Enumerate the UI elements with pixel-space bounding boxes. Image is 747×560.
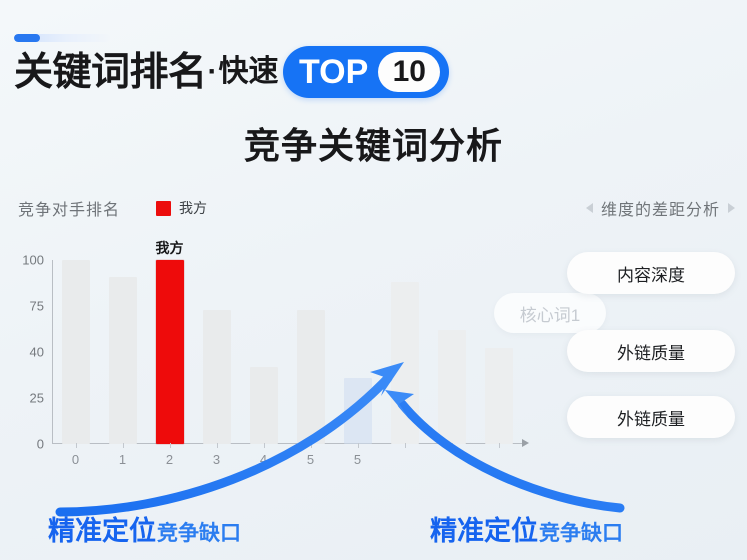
footer-caption-strong: 精准定位: [48, 509, 156, 548]
top-badge-number: 10: [378, 52, 440, 92]
bar[interactable]: [438, 330, 466, 444]
bar[interactable]: [109, 277, 137, 444]
chart-legend-title: 竞争对手排名: [18, 196, 120, 220]
top-rank-badge[interactable]: TOP 10: [283, 46, 449, 98]
page-title-separator: ·: [208, 57, 218, 87]
bar[interactable]: [203, 310, 231, 444]
bar[interactable]: [485, 348, 513, 444]
bar-value-caption: 我方: [156, 238, 184, 258]
legend-item-label: 我方: [179, 198, 207, 218]
bar[interactable]: [297, 310, 325, 444]
dimension-card-label: 外链质量: [617, 339, 685, 364]
x-axis-tick-label: 3: [213, 452, 220, 467]
dimension-card-label: 内容深度: [617, 261, 685, 286]
page-subtitle: 竞争关键词分析: [0, 117, 747, 169]
x-axis-tick: [405, 443, 406, 448]
legend-swatch-icon: [156, 201, 171, 216]
dimension-card-label: 外链质量: [617, 405, 685, 430]
page-title: 关键词排名 · 快速: [14, 44, 279, 100]
footer-caption-left: 精准定位 竞争缺口: [48, 509, 241, 548]
y-axis-tick-label: 40: [10, 345, 44, 360]
triangle-right-icon: [728, 203, 735, 213]
x-axis-tick-label: 5: [354, 452, 361, 467]
bar[interactable]: [250, 367, 278, 444]
dimension-card-2[interactable]: 外链质量: [567, 396, 735, 438]
y-axis-labels: 0254075100: [0, 236, 44, 486]
page-title-main: 关键词排名: [14, 53, 207, 92]
header-progress-track: [14, 34, 110, 42]
x-axis-tick: [76, 443, 77, 448]
y-axis-tick-label: 75: [10, 299, 44, 314]
bar-series: 我方: [52, 260, 560, 444]
bar-chart: 0254075100 我方 0123455: [0, 236, 560, 486]
bar[interactable]: [391, 282, 419, 444]
x-axis-tick-label: 5: [307, 452, 314, 467]
triangle-left-icon: [586, 203, 593, 213]
x-axis-tick: [264, 443, 265, 448]
x-axis-tick: [123, 443, 124, 448]
x-axis-tick-label: 0: [72, 452, 79, 467]
top-badge-label: TOP: [299, 55, 368, 89]
ghost-keyword-pill: 核心词1: [494, 293, 606, 333]
bar[interactable]: [62, 260, 90, 444]
dimension-card-1[interactable]: 外链质量: [567, 330, 735, 372]
dimension-card-0[interactable]: 内容深度: [567, 252, 735, 294]
side-panel-header: 维度的差距分析: [586, 196, 735, 220]
x-axis-tick: [358, 443, 359, 448]
side-panel-title: 维度的差距分析: [601, 196, 720, 220]
legend-item-mine: 我方: [156, 198, 207, 218]
chart-legend: 竞争对手排名 我方: [18, 196, 207, 220]
y-axis-tick-label: 0: [10, 437, 44, 452]
footer-caption-weak: 竞争缺口: [539, 517, 623, 547]
y-axis-tick-label: 100: [10, 253, 44, 268]
x-axis-tick: [452, 443, 453, 448]
x-axis-tick: [311, 443, 312, 448]
page-title-sub: 快速: [219, 57, 279, 87]
bar-highlight[interactable]: [156, 260, 184, 444]
header-progress-fill: [14, 34, 40, 42]
footer-caption-weak: 竞争缺口: [157, 517, 241, 547]
x-axis-tick: [499, 443, 500, 448]
x-axis-tick-label: 2: [166, 452, 173, 467]
bar[interactable]: [344, 378, 372, 444]
x-axis-tick-label: 4: [260, 452, 267, 467]
x-axis-tick: [217, 443, 218, 448]
footer-caption-strong: 精准定位: [430, 509, 538, 548]
x-axis-tick-label: 1: [119, 452, 126, 467]
x-axis-tick: [170, 443, 171, 448]
footer-caption-right: 精准定位 竞争缺口: [430, 509, 623, 548]
y-axis-tick-label: 25: [10, 391, 44, 406]
